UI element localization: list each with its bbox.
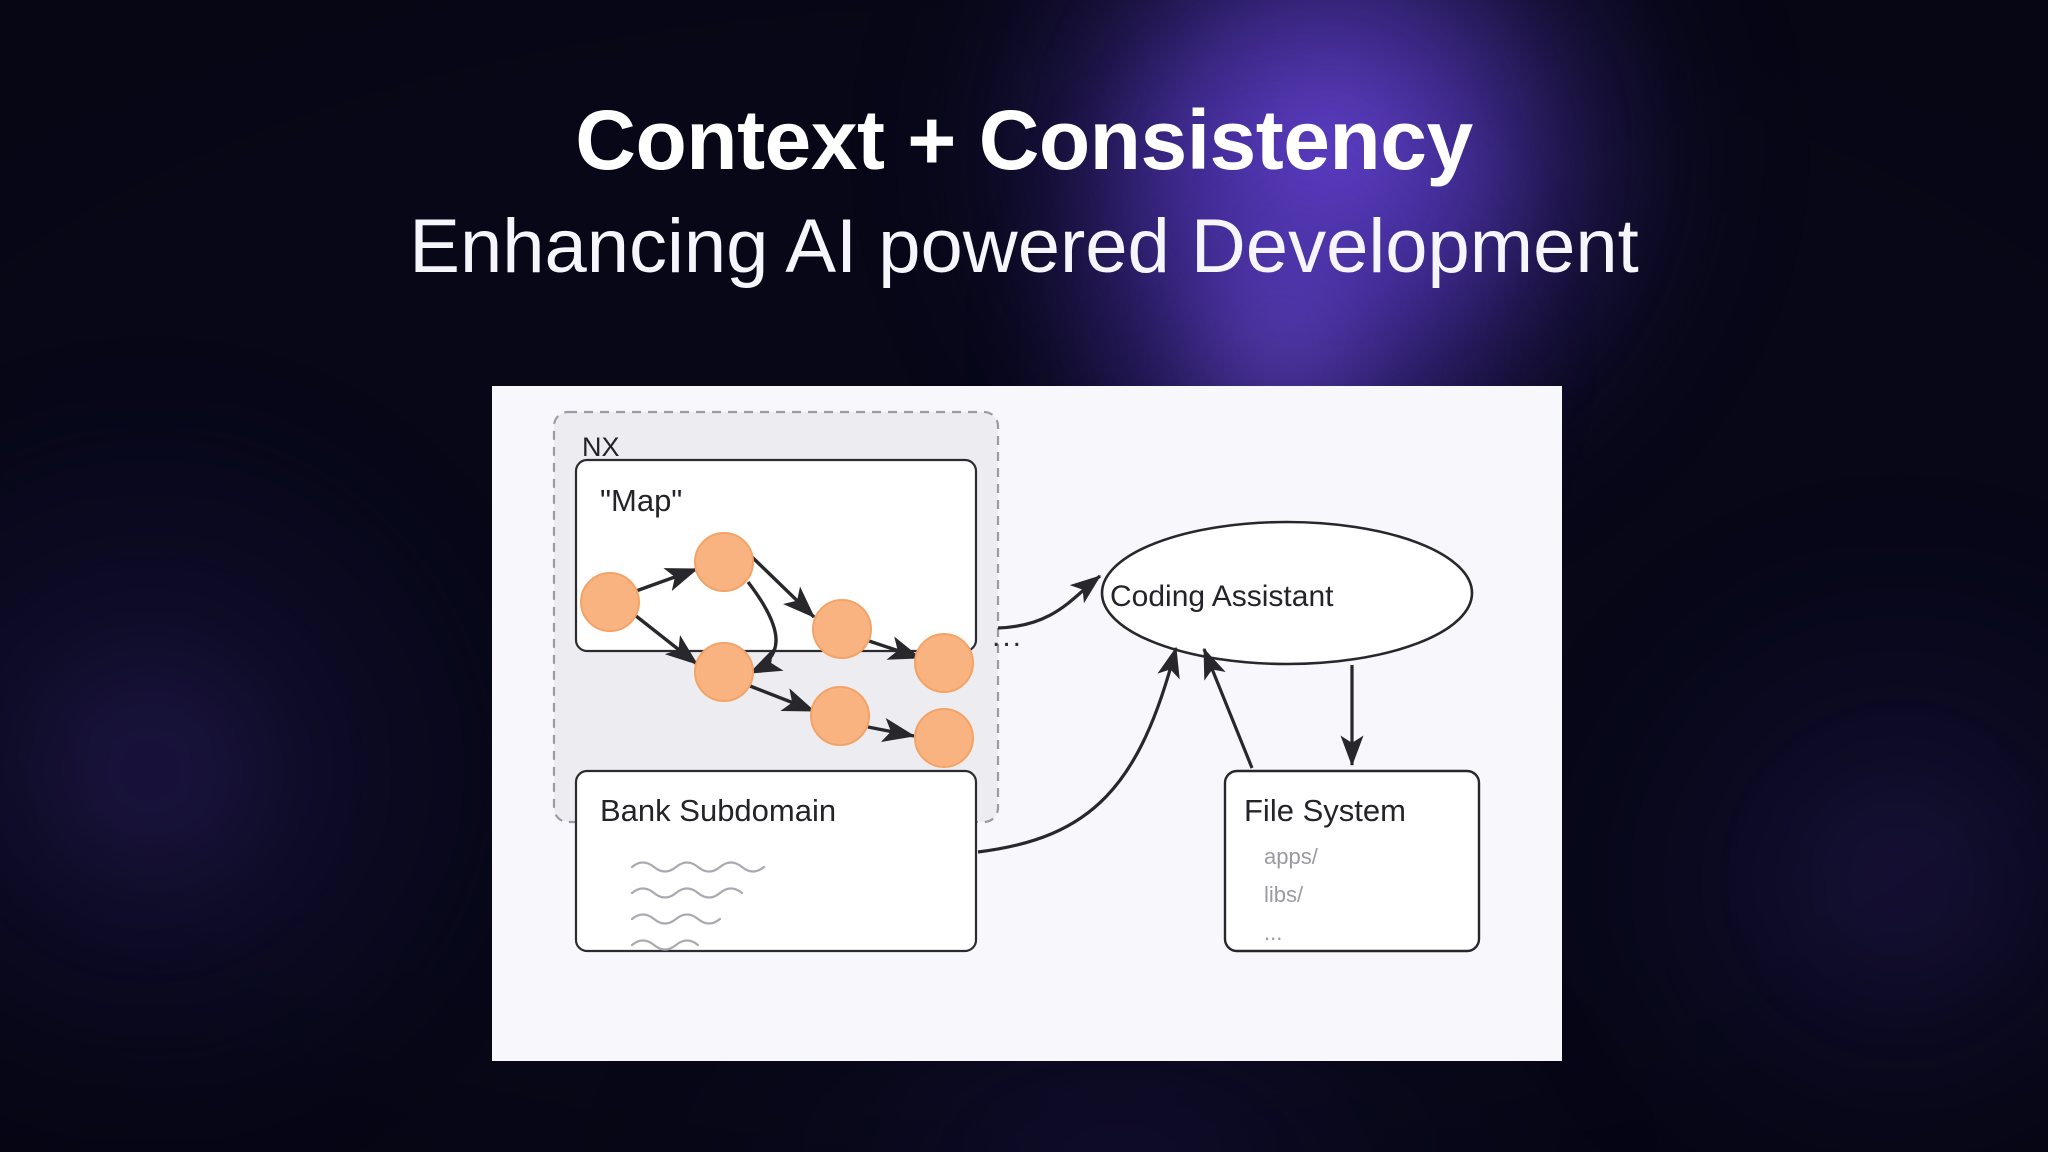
file-system-label: File System [1244,793,1406,829]
nx-container-label: NX [582,432,620,463]
connector-fs-to-assistant [1204,649,1252,768]
background-glow-right [1540,520,2048,1152]
graph-node [695,533,753,591]
slide-title: Context + Consistency [0,96,2048,184]
file-system-item: apps/ [1264,844,1318,870]
graph-node [813,600,871,658]
graph-node [581,573,639,631]
background-glow-left [0,380,540,1152]
graph-node [811,687,869,745]
graph-node [915,634,973,692]
map-box-label: "Map" [600,483,682,519]
graph-node [915,709,973,767]
map-graph-ellipsis: ... [992,620,1023,654]
diagram-panel: NX "Map" ... Bank Subdomain Coding Assis… [492,386,1562,1061]
slide-subtitle: Enhancing AI powered Development [0,205,2048,289]
slide-canvas: Context + Consistency Enhancing AI power… [0,0,2048,1152]
graph-node [695,643,753,701]
file-system-item: ... [1264,920,1282,946]
connector-bank-to-assistant [978,648,1176,852]
bank-subdomain-label: Bank Subdomain [600,793,836,829]
file-system-item: libs/ [1264,882,1303,908]
coding-assistant-label: Coding Assistant [1110,580,1333,614]
